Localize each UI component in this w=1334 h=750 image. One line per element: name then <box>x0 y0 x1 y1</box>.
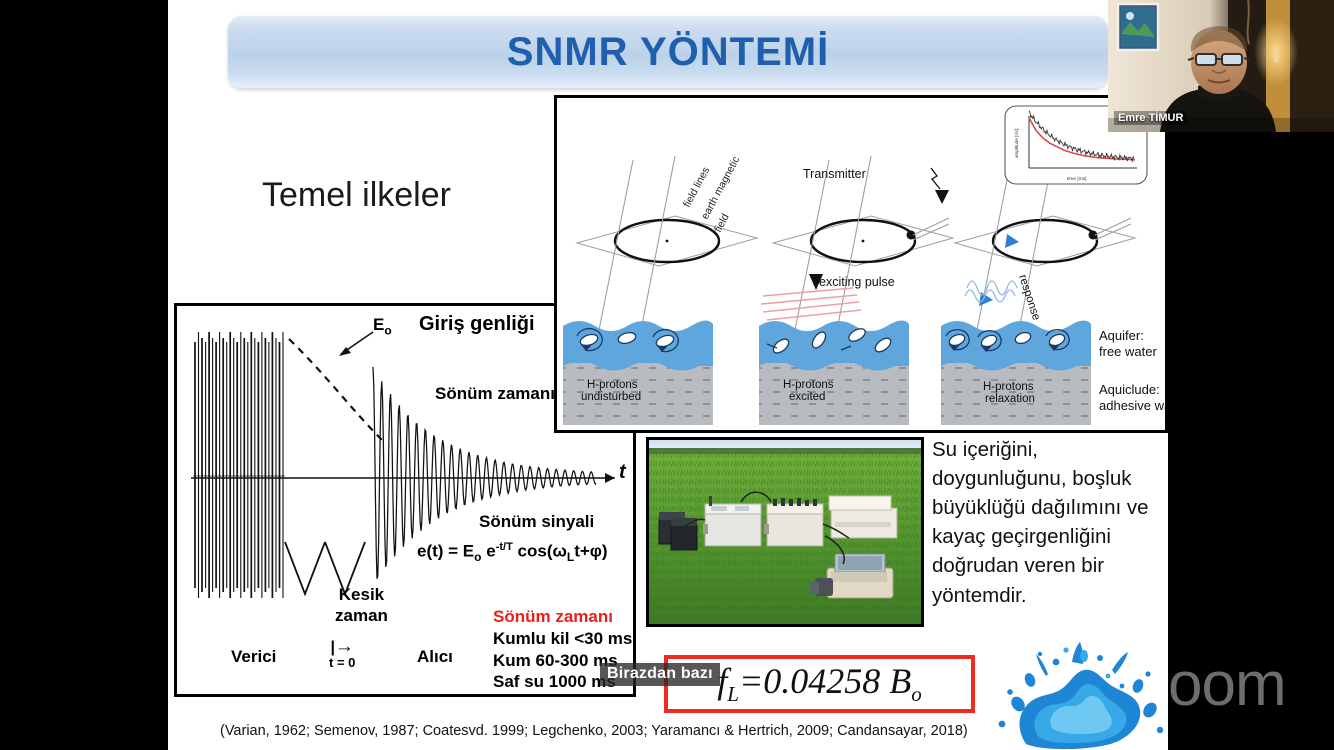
label-transmitter: Verici <box>231 647 276 667</box>
slide-subtitle: Temel ilkeler <box>262 176 451 215</box>
label-axis-t: t <box>619 461 626 484</box>
legend-aquifer-l1: Aquifer: <box>1099 328 1144 343</box>
label-cut-time: Kesik zaman <box>335 584 388 627</box>
caption-panel1-l2: undisturbed <box>581 391 641 403</box>
legend-aquiclude-l2: adhesive water <box>1099 398 1165 413</box>
slide-description-text: Su içeriğini, doygunluğunu, boşluk büyük… <box>932 435 1164 610</box>
svg-text:amplitude [nV]: amplitude [nV] <box>1014 129 1019 158</box>
formula-text: fL=0.04258 Bo <box>717 660 922 707</box>
field-equipment-photo <box>646 437 924 627</box>
annot-earth-field: earth magnetic <box>699 154 742 221</box>
snmr-principle-diagram: field lines earth magnetic field <box>554 95 1168 433</box>
decay-line-0: Kumlu kil <30 ms <box>493 628 632 650</box>
decay-equation: e(t) = Eo e-t/T cos(ωLt+φ) <box>417 541 608 564</box>
participant-video-tile[interactable]: Emre TİMUR <box>1108 0 1334 132</box>
legend-aquiclude-l1: Aquiclude: <box>1099 382 1160 397</box>
zoom-watermark: oom <box>1168 650 1334 720</box>
slide-title-banner: SNMR YÖNTEMİ <box>228 16 1108 88</box>
caption-panel2-l2: excited <box>789 391 825 403</box>
presentation-slide: SNMR YÖNTEMİ Temel ilkeler <box>168 0 1168 750</box>
participant-name-label: Emre TİMUR <box>1114 111 1187 125</box>
water-splash-graphic <box>988 640 1168 750</box>
annot-response: response <box>1016 273 1042 322</box>
zoom-shared-screen: SNMR YÖNTEMİ Temel ilkeler <box>0 0 1334 750</box>
svg-text:field: field <box>712 212 732 235</box>
caption-panel2-l1: H-protons <box>783 379 834 391</box>
label-receiver: Alıcı <box>417 647 453 667</box>
annot-transmitter: Transmitter <box>803 167 866 181</box>
citation-line: (Varian, 1962; Semenov, 1987; Coatesvd. … <box>220 723 1120 739</box>
label-e0: Eo <box>373 315 392 337</box>
svg-text:time [ms]: time [ms] <box>1067 176 1086 182</box>
caption-panel3-l2: relaxation <box>985 393 1035 405</box>
page-title: SNMR YÖNTEMİ <box>507 30 829 75</box>
label-decay-signal: Sönüm sinyali <box>479 512 594 532</box>
legend-aquifer-l2: free water <box>1099 344 1157 359</box>
principle-diagram-graphic: field lines earth magnetic field <box>557 98 1165 430</box>
decay-time-heading: Sönüm zamanı <box>493 606 632 628</box>
label-input-amplitude: Giriş genliği <box>419 313 535 336</box>
live-caption: Birazdan bazı <box>600 663 720 686</box>
label-time-zero: |→ t = 0 <box>329 637 355 669</box>
annot-exciting-pulse: exciting pulse <box>819 275 895 289</box>
caption-panel3-l1: H-protons <box>983 381 1034 393</box>
caption-panel1-l1: H-protons <box>587 379 638 391</box>
field-photo-graphic <box>649 440 921 624</box>
label-decay-time: Sönüm zamanı <box>435 384 555 404</box>
